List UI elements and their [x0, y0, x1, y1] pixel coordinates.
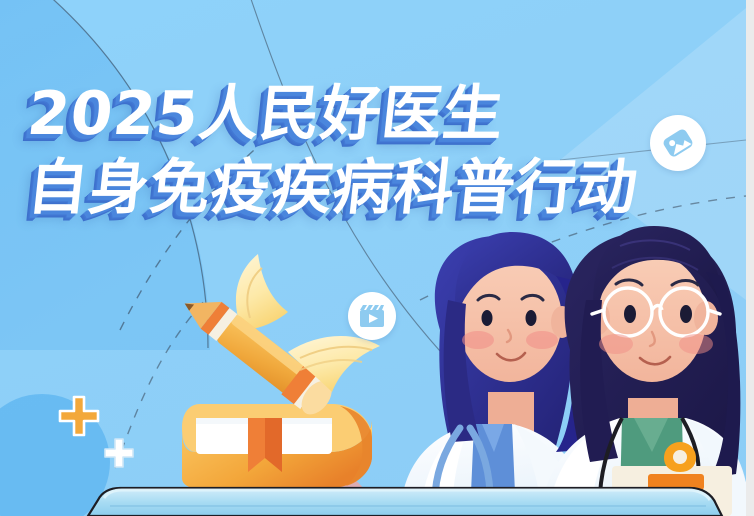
- video-clapperboard-icon: [357, 301, 387, 331]
- title-line-1: 2025人民好医生: [25, 84, 721, 144]
- winged-pencil-illustration: [177, 254, 380, 420]
- title-block: 2025人民好医生 自身免疫疾病科普行动: [28, 84, 718, 218]
- video-badge[interactable]: [348, 292, 396, 340]
- plus-icon-orange: [58, 395, 100, 437]
- poster-banner: 2025人民好医生 自身免疫疾病科普行动: [0, 0, 754, 516]
- right-edge-strip: [746, 0, 754, 516]
- desk-panel: [88, 488, 722, 516]
- book-illustration: [182, 404, 372, 488]
- title-line-2: 自身免疫疾病科普行动: [25, 158, 721, 218]
- plus-icon-white: [103, 437, 135, 469]
